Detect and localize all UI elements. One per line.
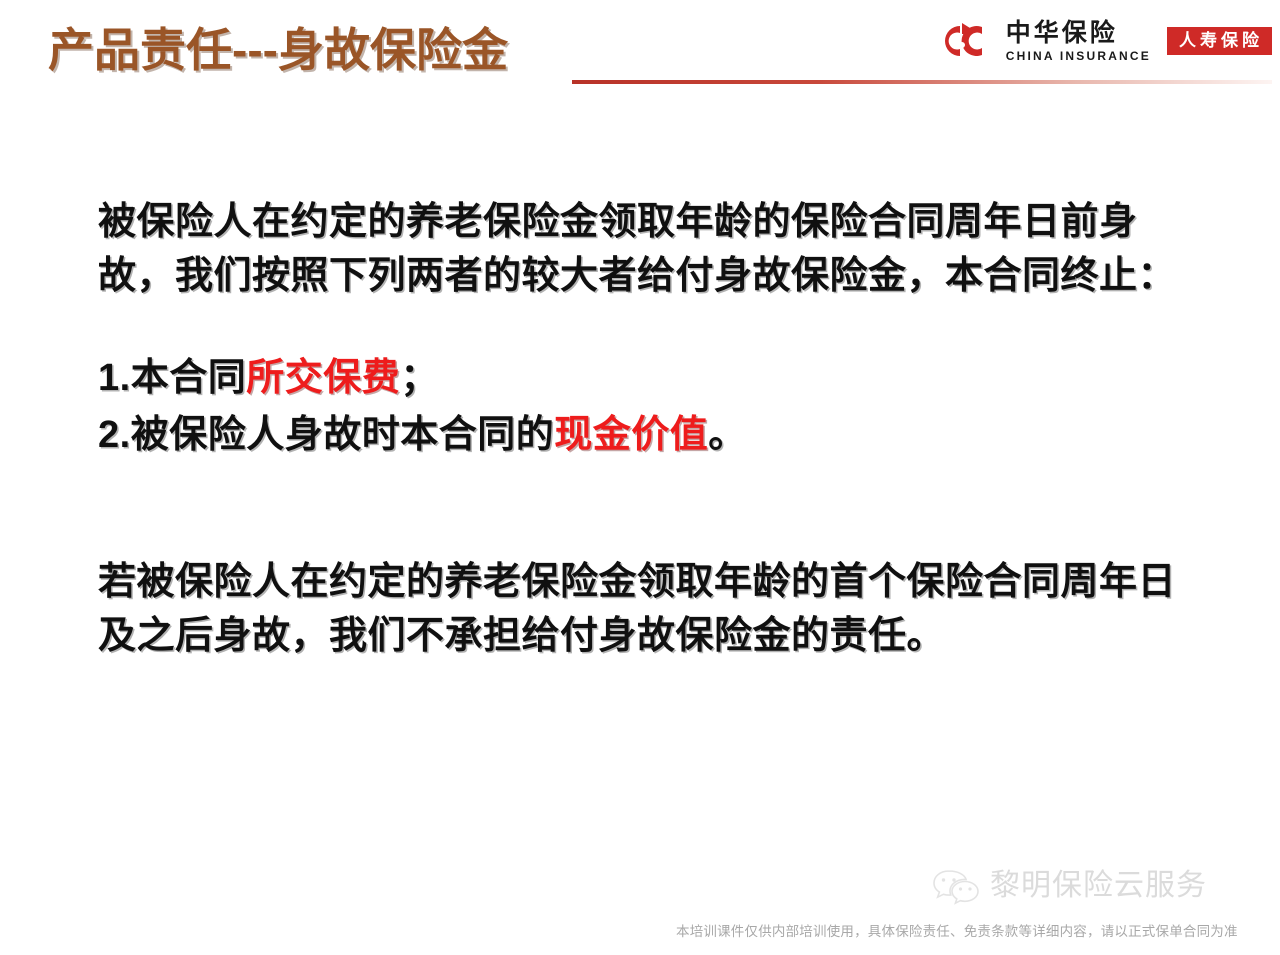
list-item-2-suffix: 。 <box>708 414 747 456</box>
slide-body: 被保险人在约定的养老保险金领取年龄的保险合同周年日前身故，我们按照下列两者的较大… <box>98 196 1188 664</box>
china-insurance-dc-mark-icon <box>942 18 996 64</box>
logo-wordmark: 中华保险 CHINA INSURANCE <box>1006 21 1151 62</box>
watermark: 黎明保险云服务 <box>932 866 1207 906</box>
paragraph-death-benefit-intro: 被保险人在约定的养老保险金领取年龄的保险合同周年日前身故，我们按照下列两者的较大… <box>98 196 1188 304</box>
logo-name-cn: 中华保险 <box>1006 21 1118 46</box>
benefit-list: 1.本合同所交保费； 2.被保险人身故时本合同的现金价值。 <box>98 350 1188 464</box>
list-item-2-prefix: 2.被保险人身故时本合同的 <box>98 414 554 456</box>
list-item-2-highlight: 现金价值 <box>554 414 708 456</box>
logo-badge-life-insurance: 人寿保险 <box>1167 27 1272 55</box>
list-item-1-highlight: 所交保费 <box>246 357 400 399</box>
paragraph-no-liability: 若被保险人在约定的养老保险金领取年龄的首个保险合同周年日及之后身故，我们不承担给… <box>98 556 1188 664</box>
list-item: 2.被保险人身故时本合同的现金价值。 <box>98 407 1188 464</box>
wechat-icon <box>932 866 984 906</box>
brand-logo: 中华保险 CHINA INSURANCE 人寿保险 <box>942 18 1272 64</box>
list-item-1-suffix: ； <box>400 357 439 399</box>
logo-name-en: CHINA INSURANCE <box>1006 50 1151 62</box>
watermark-text: 黎明保险云服务 <box>990 871 1207 901</box>
slide-canvas: 产品责任---身故保险金 中华保险 CHINA INSURANCE 人寿保险 被… <box>0 0 1280 955</box>
page-title: 产品责任---身故保险金 <box>48 24 508 77</box>
list-item-1-prefix: 1.本合同 <box>98 357 246 399</box>
list-item: 1.本合同所交保费； <box>98 350 1188 407</box>
footer-disclaimer: 本培训课件仅供内部培训使用，具体保险责任、免责条款等详细内容，请以正式保单合同为… <box>676 920 1238 940</box>
title-underline-rule <box>572 80 1272 84</box>
slide-header: 产品责任---身故保险金 中华保险 CHINA INSURANCE 人寿保险 <box>0 0 1280 100</box>
